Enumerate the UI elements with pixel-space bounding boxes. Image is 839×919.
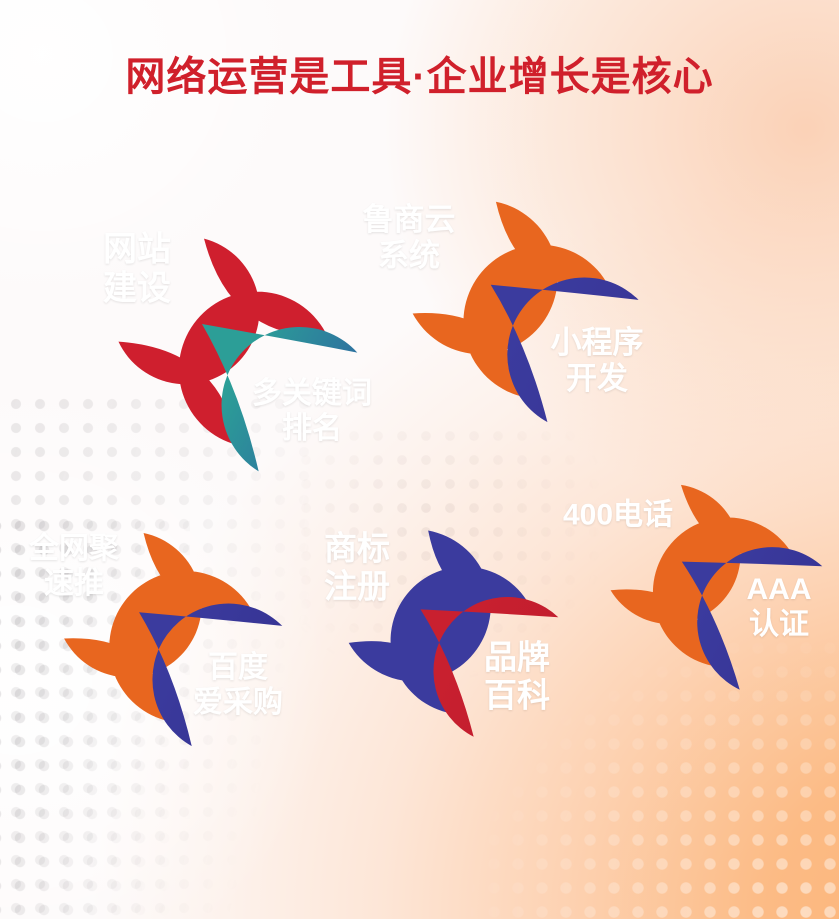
pair-quanwangju-tail-body[interactable] [139,604,282,747]
pair-quanwangju[interactable] [64,533,282,746]
pair-lushangyun[interactable] [413,202,639,422]
pair-400[interactable] [611,485,823,690]
pair-lushangyun-tail-body[interactable] [491,278,639,423]
poster-canvas: 网络运营是工具·企业增长是核心 网站 建设多关键词 排名鲁商云 系统小程序 开发… [0,0,839,919]
pair-website[interactable] [118,239,357,472]
service-peanut-shapes [0,0,839,919]
page-title: 网络运营是工具·企业增长是核心 [0,44,839,102]
pair-trademark[interactable] [349,531,559,737]
pair-400-tail-body[interactable] [682,547,822,690]
pair-website-tail-body[interactable] [202,324,357,471]
